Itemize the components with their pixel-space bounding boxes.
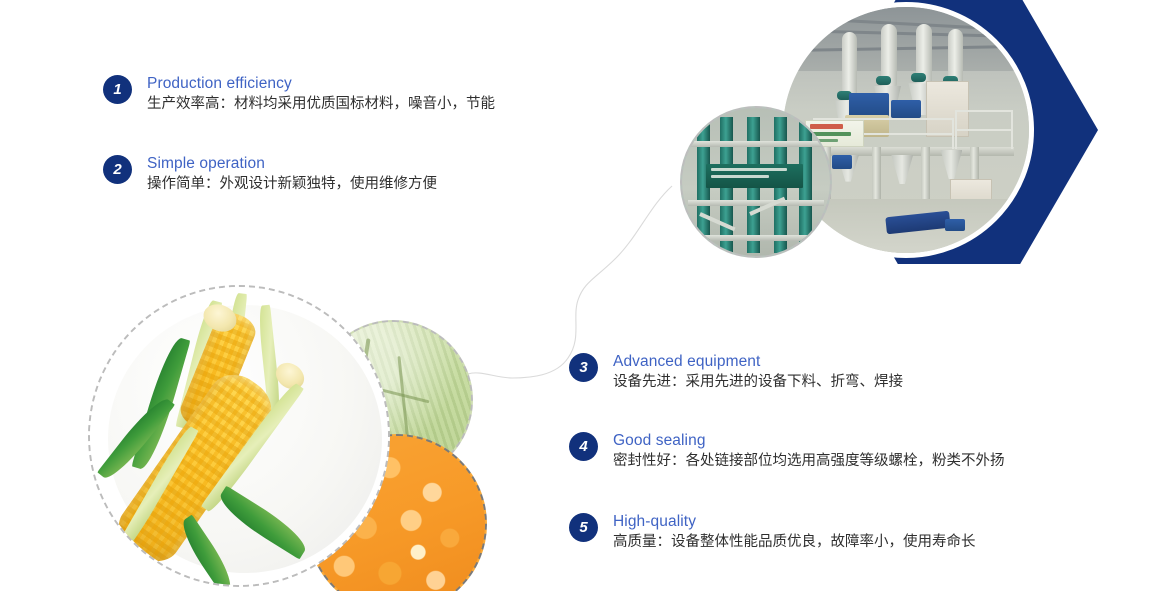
feature-title-3: Advanced equipment	[613, 352, 903, 371]
feature-item-2[interactable]: 2 Simple operation 操作简单：外观设计新颖独特，使用维修方便	[103, 154, 437, 195]
feature-title-5: High-quality	[613, 512, 976, 531]
feature-item-1[interactable]: 1 Production efficiency 生产效率高：材料均采用优质国标材…	[103, 74, 495, 115]
corn-cobs-photo: 带叶的新鲜黄玉米棒	[88, 285, 390, 587]
feature-description-1: 生产效率高：材料均采用优质国标材料，噪音小，节能	[147, 94, 495, 115]
feature-badge-2: 2	[103, 155, 132, 184]
feature-description-4: 密封性好：各处链接部位均选用高强度等级螺栓，粉类不外扬	[613, 451, 1005, 472]
hexagon-photo-cluster: 绿色立柱玉米加工成套设备车间	[660, 0, 1154, 286]
feature-badge-3: 3	[569, 353, 598, 382]
feature-item-4[interactable]: 4 Good sealing 密封性好：各处链接部位均选用高强度等级螺栓，粉类不…	[569, 431, 1005, 472]
feature-description-2: 操作简单：外观设计新颖独特，使用维修方便	[147, 174, 437, 195]
feature-title-4: Good sealing	[613, 431, 1005, 450]
feature-item-5[interactable]: 5 High-quality 高质量：设备整体性能品质优良，故障率小，使用寿命长	[569, 512, 976, 553]
feature-description-3: 设备先进：采用先进的设备下料、折弯、焊接	[613, 372, 903, 393]
product-features-page: 绿色立柱玉米加工成套设备车间	[0, 0, 1154, 591]
factory-mill-line-small-photo: 绿色立柱玉米加工成套设备车间	[680, 106, 832, 258]
produce-photo-cluster: 绿色玉米糊 / 玉米饼 橙黄色玉米碴颗粒	[85, 282, 495, 591]
feature-title-1: Production efficiency	[147, 74, 495, 93]
feature-badge-5: 5	[569, 513, 598, 542]
feature-badge-1: 1	[103, 75, 132, 104]
feature-title-2: Simple operation	[147, 154, 437, 173]
feature-item-3[interactable]: 3 Advanced equipment 设备先进：采用先进的设备下料、折弯、焊…	[569, 352, 903, 393]
feature-badge-4: 4	[569, 432, 598, 461]
feature-description-5: 高质量：设备整体性能品质优良，故障率小，使用寿命长	[613, 532, 976, 553]
